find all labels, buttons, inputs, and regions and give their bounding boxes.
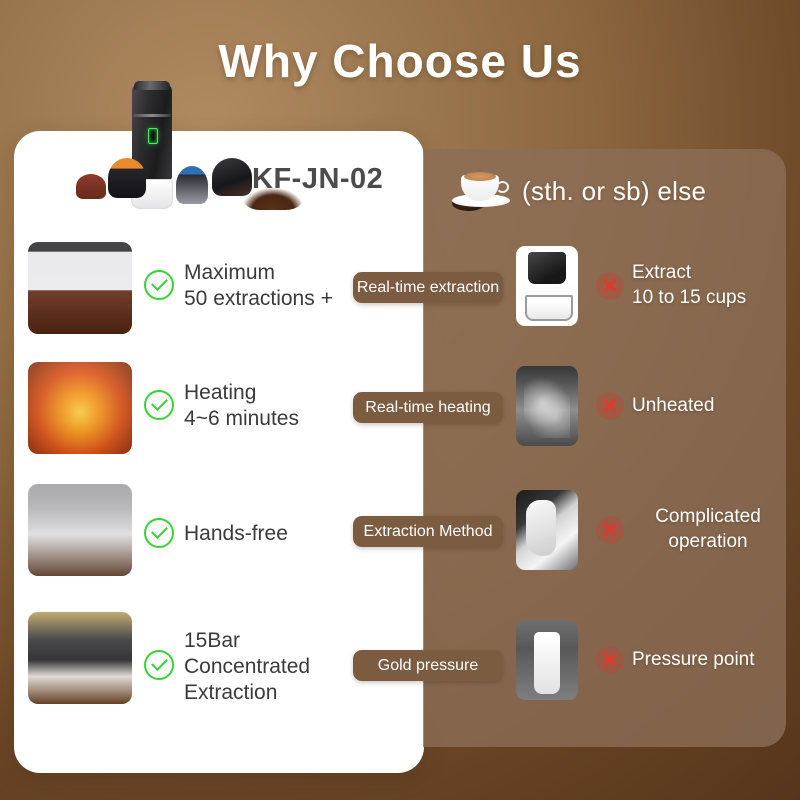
machine-display-icon xyxy=(148,128,158,144)
comparison-row: 15Bar Concentrated Extraction Gold press… xyxy=(0,608,800,718)
right-feature-thumbnail xyxy=(516,490,578,570)
center-feature-label[interactable]: Real-time extraction xyxy=(353,272,503,303)
red-x-icon xyxy=(596,646,624,674)
crema-shape xyxy=(464,172,496,181)
red-x-icon xyxy=(596,272,624,300)
center-feature-label[interactable]: Real-time heating xyxy=(353,392,503,423)
left-feature-thumbnail xyxy=(28,362,132,454)
right-feature-text: Extract 10 to 15 cups xyxy=(632,260,746,310)
left-feature-text: 15Bar Concentrated Extraction xyxy=(184,628,310,706)
left-feature-text: Hands-free xyxy=(184,521,288,547)
right-feature-text: Complicated operation xyxy=(628,504,788,554)
comparison-row: Hands-free Extraction Method Complicated… xyxy=(0,480,800,590)
center-feature-label[interactable]: Gold pressure xyxy=(353,650,503,681)
capsule-icon xyxy=(76,174,106,199)
red-x-icon xyxy=(596,392,624,420)
right-feature-text: Pressure point xyxy=(632,647,755,672)
capsule-icon xyxy=(176,166,208,204)
red-x-icon xyxy=(596,516,624,544)
left-feature-thumbnail xyxy=(28,612,132,704)
green-check-icon xyxy=(144,518,174,548)
left-feature-text: Heating 4~6 minutes xyxy=(184,380,299,432)
right-feature-text: Unheated xyxy=(632,393,714,418)
center-feature-label[interactable]: Extraction Method xyxy=(353,516,503,547)
right-feature-thumbnail xyxy=(516,246,578,326)
infographic-root: Why Choose Us KF-JN-02 (sth. or sb) else… xyxy=(0,0,800,800)
comparison-row: Maximum 50 extractions + Real-time extra… xyxy=(0,238,800,348)
right-feature-thumbnail xyxy=(516,366,578,446)
product-model-name: KF-JN-02 xyxy=(252,163,383,196)
green-check-icon xyxy=(144,390,174,420)
comparison-row: Heating 4~6 minutes Real-time heating Un… xyxy=(0,358,800,468)
green-check-icon xyxy=(144,270,174,300)
green-check-icon xyxy=(144,650,174,680)
coffee-cup-icon xyxy=(452,165,514,211)
left-feature-thumbnail xyxy=(28,242,132,334)
product-hero-image xyxy=(36,84,298,216)
cup-handle-shape xyxy=(496,181,509,193)
left-feature-text: Maximum 50 extractions + xyxy=(184,260,333,312)
right-feature-thumbnail xyxy=(516,620,578,700)
left-feature-thumbnail xyxy=(28,484,132,576)
right-column-title: (sth. or sb) else xyxy=(522,176,706,207)
page-title: Why Choose Us xyxy=(0,34,800,88)
capsule-icon xyxy=(108,158,146,198)
